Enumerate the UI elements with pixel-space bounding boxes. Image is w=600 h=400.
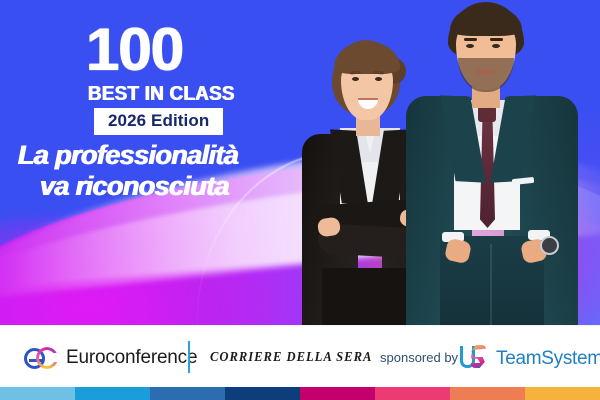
tagline: La professionalità va riconosciuta bbox=[18, 140, 308, 202]
footer-divider bbox=[188, 341, 190, 373]
stripe-segment-5 bbox=[300, 387, 375, 400]
edition-badge: 2026 Edition bbox=[94, 108, 223, 135]
stripe-segment-1 bbox=[0, 387, 75, 400]
stripe-segment-2 bbox=[75, 387, 150, 400]
woman-eye-left bbox=[352, 77, 359, 81]
ec-monogram-icon bbox=[24, 345, 60, 371]
man-wristwatch bbox=[540, 236, 559, 255]
people-photo bbox=[292, 0, 600, 330]
award-number: 100 bbox=[86, 20, 183, 80]
businessman-figure bbox=[404, 0, 594, 330]
man-eyebrow-left bbox=[464, 38, 477, 41]
teamsystem-s-icon bbox=[471, 345, 486, 368]
man-trouser-crease bbox=[490, 244, 492, 330]
partner-name: CORRIERE DELLA SERA bbox=[210, 350, 372, 366]
teamsystem-mark-icon bbox=[460, 343, 488, 371]
ec-c-gap bbox=[51, 353, 60, 362]
footer-content: Euroconference CORRIERE DELLA SERA spons… bbox=[0, 325, 600, 387]
stripe-segment-7 bbox=[450, 387, 525, 400]
stripe-segment-4 bbox=[225, 387, 300, 400]
stripe-segment-8 bbox=[525, 387, 600, 400]
woman-hair-front bbox=[334, 42, 400, 74]
euroconference-name: Euroconference bbox=[66, 347, 197, 369]
tagline-line-2: va riconosciuta bbox=[18, 171, 308, 202]
award-subtitle: BEST IN CLASS bbox=[88, 84, 235, 104]
stripe-segment-3 bbox=[150, 387, 225, 400]
man-mouth bbox=[476, 70, 494, 74]
sponsor-name: TeamSystem bbox=[496, 348, 600, 370]
footer-bar: Euroconference CORRIERE DELLA SERA spons… bbox=[0, 325, 600, 400]
stripe-segment-6 bbox=[375, 387, 450, 400]
promo-banner: 100 BEST IN CLASS 2026 Edition La profes… bbox=[0, 0, 600, 400]
man-beard bbox=[458, 58, 514, 92]
man-tie-knot bbox=[478, 106, 496, 122]
man-eyebrow-right bbox=[490, 38, 503, 41]
woman-eye-right bbox=[375, 77, 382, 81]
man-eye-right bbox=[492, 44, 500, 48]
man-eye-left bbox=[466, 44, 474, 48]
sponsored-label: sponsored by bbox=[380, 350, 458, 365]
color-stripe-bar bbox=[0, 387, 600, 400]
tagline-line-1: La professionalità bbox=[18, 140, 308, 171]
